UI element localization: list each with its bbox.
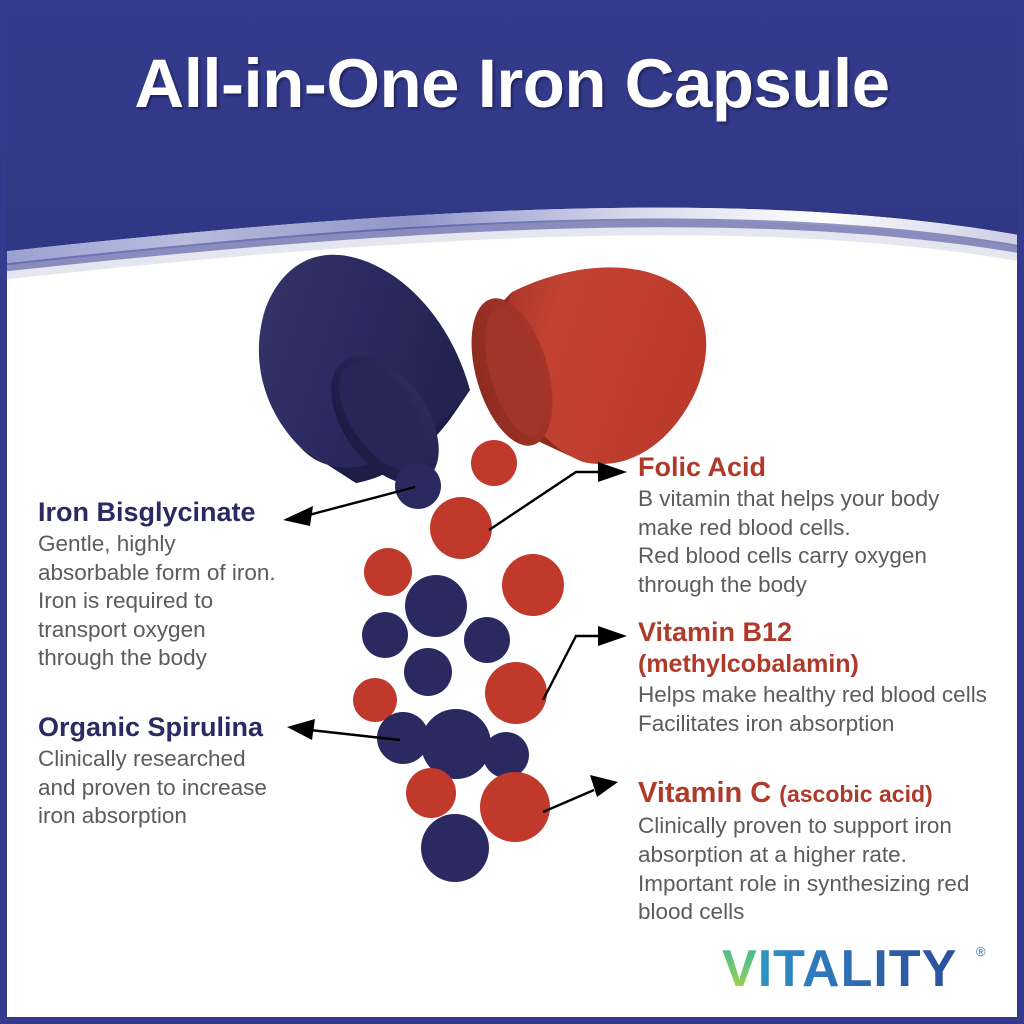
pellet-navy bbox=[395, 463, 441, 509]
vitamin-b12-subheading: (methylcobalamin) bbox=[638, 650, 1008, 678]
svg-text:VITALITY: VITALITY bbox=[722, 940, 957, 998]
arrow-to-vitamin-b12 bbox=[543, 626, 627, 700]
pellet-red bbox=[430, 497, 492, 559]
pellet-navy bbox=[464, 617, 510, 663]
section-iron-bisglycinate: Iron Bisglycinate Gentle, highly absorba… bbox=[38, 497, 328, 673]
vitamin-b12-heading: Vitamin B12 bbox=[638, 617, 1008, 647]
registered-trademark-icon: ® bbox=[976, 944, 986, 959]
red-capsule-half bbox=[456, 267, 706, 464]
pellet-navy bbox=[421, 814, 489, 882]
navy-capsule-half bbox=[259, 255, 470, 503]
organic-spirulina-heading: Organic Spirulina bbox=[38, 712, 328, 742]
vitality-logo: VITALITY ® bbox=[722, 940, 986, 998]
vitamin-c-heading-suffix: (ascobic acid) bbox=[779, 781, 932, 807]
vitamin-c-heading: Vitamin C bbox=[638, 777, 771, 809]
pellet-navy bbox=[362, 612, 408, 658]
pellet-red bbox=[471, 440, 517, 486]
pellet-red bbox=[480, 772, 550, 842]
section-folic-acid: Folic Acid B vitamin that helps your bod… bbox=[638, 452, 1008, 599]
pellet-red bbox=[502, 554, 564, 616]
folic-acid-body: B vitamin that helps your body make red … bbox=[638, 485, 1008, 599]
pellet-navy bbox=[483, 732, 529, 778]
pellet-red bbox=[485, 662, 547, 724]
vitamin-b12-body: Helps make healthy red blood cells Facil… bbox=[638, 681, 1008, 738]
pellet-navy bbox=[405, 575, 467, 637]
organic-spirulina-body: Clinically researched and proven to incr… bbox=[38, 745, 328, 831]
iron-bisglycinate-body: Gentle, highly absorbable form of iron. … bbox=[38, 530, 328, 673]
folic-acid-heading: Folic Acid bbox=[638, 452, 1008, 482]
section-vitamin-b12: Vitamin B12 (methylcobalamin) Helps make… bbox=[638, 617, 1008, 738]
pellet-cluster bbox=[353, 440, 564, 882]
infographic-poster: All-in-One Iron Capsule bbox=[0, 0, 1024, 1024]
vitality-wordmark: VITALITY bbox=[722, 940, 974, 998]
vitamin-c-body: Clinically proven to support iron absorp… bbox=[638, 812, 1016, 926]
pellet-red bbox=[364, 548, 412, 596]
pellet-red bbox=[406, 768, 456, 818]
pellet-navy bbox=[404, 648, 452, 696]
vitamin-c-heading-line: Vitamin C (ascobic acid) bbox=[638, 777, 1016, 809]
section-vitamin-c: Vitamin C (ascobic acid) Clinically prov… bbox=[638, 777, 1016, 927]
section-organic-spirulina: Organic Spirulina Clinically researched … bbox=[38, 712, 328, 831]
iron-bisglycinate-heading: Iron Bisglycinate bbox=[38, 497, 328, 527]
arrow-to-vitamin-c bbox=[543, 775, 618, 812]
